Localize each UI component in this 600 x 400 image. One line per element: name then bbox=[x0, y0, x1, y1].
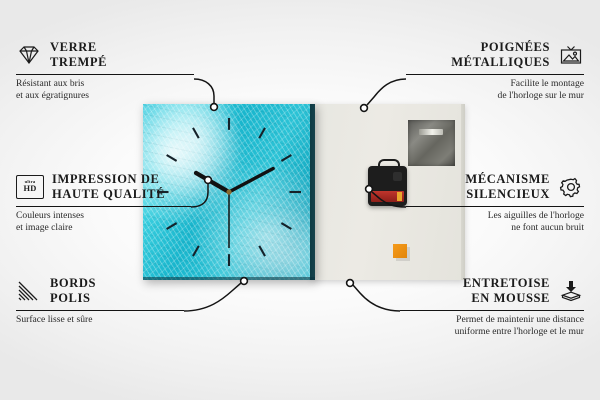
connector-dot-bords bbox=[241, 278, 248, 285]
feature-title: IMPRESSION DE HAUTE QUALITÉ bbox=[52, 172, 165, 202]
feature-title-line1: VERRE bbox=[50, 40, 107, 55]
feature-sub-line1: Les aiguilles de l'horloge bbox=[369, 210, 584, 222]
feature-title-line2: TREMPÉ bbox=[50, 55, 107, 70]
ultra-hd-main-text: HD bbox=[24, 185, 37, 193]
feature-divider bbox=[400, 310, 584, 311]
feature-sub-line2: de l'horloge sur le mur bbox=[369, 90, 584, 102]
feature-entretoise-en-mousse: ENTRETOISE EN MOUSSE Permet de maintenir… bbox=[369, 276, 584, 338]
feature-title-line2: HAUTE QUALITÉ bbox=[52, 187, 165, 202]
feature-sub-line1: Couleurs intenses bbox=[16, 210, 231, 222]
picture-hanger-icon bbox=[558, 44, 584, 66]
feature-title-line1: ENTRETOISE bbox=[463, 276, 550, 291]
feature-header: MÉCANISME SILENCIEUX bbox=[369, 172, 584, 202]
feature-sub-line1: Surface lisse et sûre bbox=[16, 314, 231, 326]
feature-header: POIGNÉES MÉTALLIQUES bbox=[369, 40, 584, 70]
connector-dot-entretoise bbox=[347, 280, 354, 287]
feature-subtitle: Résistant aux bris et aux égratignures bbox=[16, 78, 231, 103]
feature-title: POIGNÉES MÉTALLIQUES bbox=[451, 40, 550, 70]
feature-divider bbox=[16, 206, 191, 207]
feature-subtitle: Surface lisse et sûre bbox=[16, 314, 231, 326]
feature-sub-line2: et aux égratignures bbox=[16, 90, 231, 102]
feature-divider bbox=[406, 206, 584, 207]
ultra-hd-icon: ultra HD bbox=[16, 175, 44, 199]
connector-dot-verre bbox=[211, 104, 218, 111]
feature-sub-line1: Facilite le montage bbox=[369, 78, 584, 90]
feature-title: MÉCANISME SILENCIEUX bbox=[465, 172, 550, 202]
feature-title-line2: SILENCIEUX bbox=[465, 187, 550, 202]
feature-title: VERRE TREMPÉ bbox=[50, 40, 107, 70]
feature-divider bbox=[406, 74, 584, 75]
feature-mecanisme-silencieux: MÉCANISME SILENCIEUX Les aiguilles de l'… bbox=[369, 172, 584, 234]
foam-spacer-icon bbox=[558, 280, 584, 302]
feature-divider bbox=[16, 310, 184, 311]
feature-sub-line1: Résistant aux bris bbox=[16, 78, 231, 90]
feature-impression-haute-qualite: ultra HD IMPRESSION DE HAUTE QUALITÉ Cou… bbox=[16, 172, 231, 234]
connector-dot-poignees bbox=[361, 105, 368, 112]
feature-poignees-metalliques: POIGNÉES MÉTALLIQUES Facilite le montage… bbox=[369, 40, 584, 102]
feature-bords-polis: BORDS POLIS Surface lisse et sûre bbox=[16, 276, 231, 326]
feature-sub-line2: et image claire bbox=[16, 222, 231, 234]
feature-subtitle: Couleurs intenses et image claire bbox=[16, 210, 231, 235]
feature-header: BORDS POLIS bbox=[16, 276, 231, 306]
feature-header: VERRE TREMPÉ bbox=[16, 40, 231, 70]
feature-sub-line2: ne font aucun bruit bbox=[369, 222, 584, 234]
feature-sub-line1: Permet de maintenir une distance bbox=[369, 314, 584, 326]
feature-title-line2: MÉTALLIQUES bbox=[451, 55, 550, 70]
feature-header: ENTRETOISE EN MOUSSE bbox=[369, 276, 584, 306]
diamond-icon bbox=[16, 44, 42, 66]
feature-subtitle: Facilite le montage de l'horloge sur le … bbox=[369, 78, 584, 103]
feature-verre-trempe: VERRE TREMPÉ Résistant aux bris et aux é… bbox=[16, 40, 231, 102]
polished-edge-icon bbox=[16, 280, 42, 302]
gear-icon bbox=[558, 176, 584, 198]
feature-title-line2: EN MOUSSE bbox=[463, 291, 550, 306]
feature-title: BORDS POLIS bbox=[50, 276, 96, 306]
feature-title-line1: IMPRESSION DE bbox=[52, 172, 165, 187]
feature-title-line2: POLIS bbox=[50, 291, 96, 306]
feature-title-line1: BORDS bbox=[50, 276, 96, 291]
feature-header: ultra HD IMPRESSION DE HAUTE QUALITÉ bbox=[16, 172, 231, 202]
infographic-canvas: VERRE TREMPÉ Résistant aux bris et aux é… bbox=[0, 0, 600, 400]
feature-title-line1: POIGNÉES bbox=[451, 40, 550, 55]
feature-subtitle: Les aiguilles de l'horloge ne font aucun… bbox=[369, 210, 584, 235]
feature-sub-line2: uniforme entre l'horloge et le mur bbox=[369, 326, 584, 338]
feature-title-line1: MÉCANISME bbox=[465, 172, 550, 187]
feature-divider bbox=[16, 74, 194, 75]
feature-subtitle: Permet de maintenir une distance uniform… bbox=[369, 314, 584, 339]
feature-title: ENTRETOISE EN MOUSSE bbox=[463, 276, 550, 306]
